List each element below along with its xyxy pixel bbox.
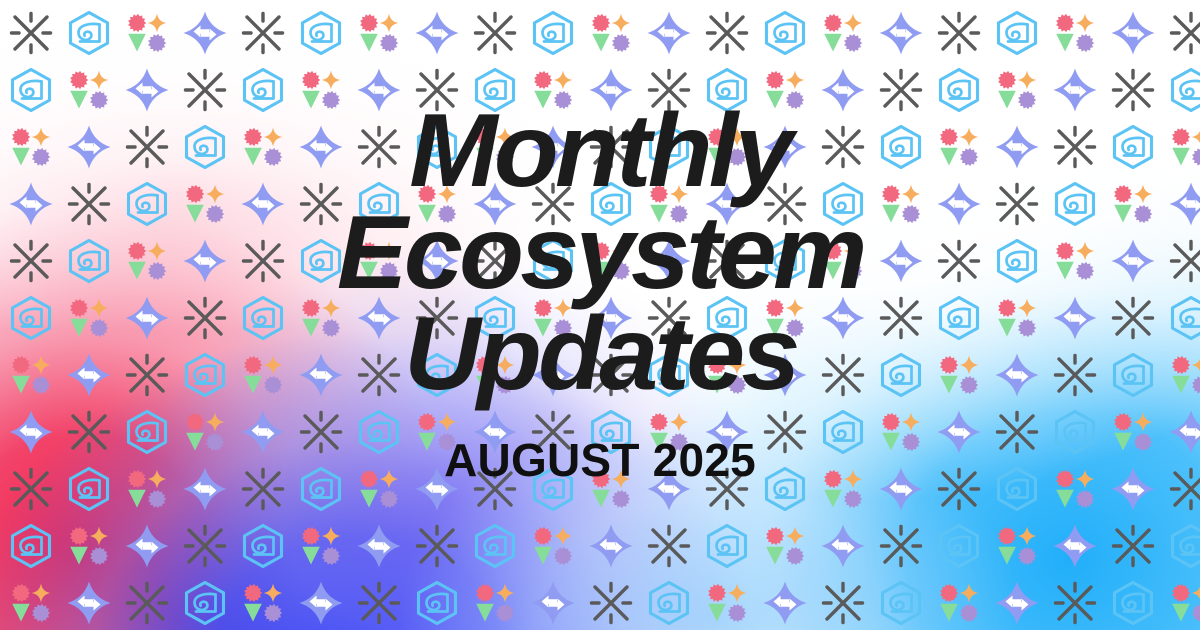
title-line-3: Updates [404, 307, 797, 403]
title-line-1: Monthly [410, 104, 791, 200]
banner-card: Monthly Ecosystem Updates AUGUST 2025 [0, 0, 1200, 630]
subtitle-date: AUGUST 2025 [444, 433, 756, 487]
headline-block: Monthly Ecosystem Updates AUGUST 2025 [0, 0, 1200, 630]
title-line-2: Ecosystem [337, 206, 864, 302]
